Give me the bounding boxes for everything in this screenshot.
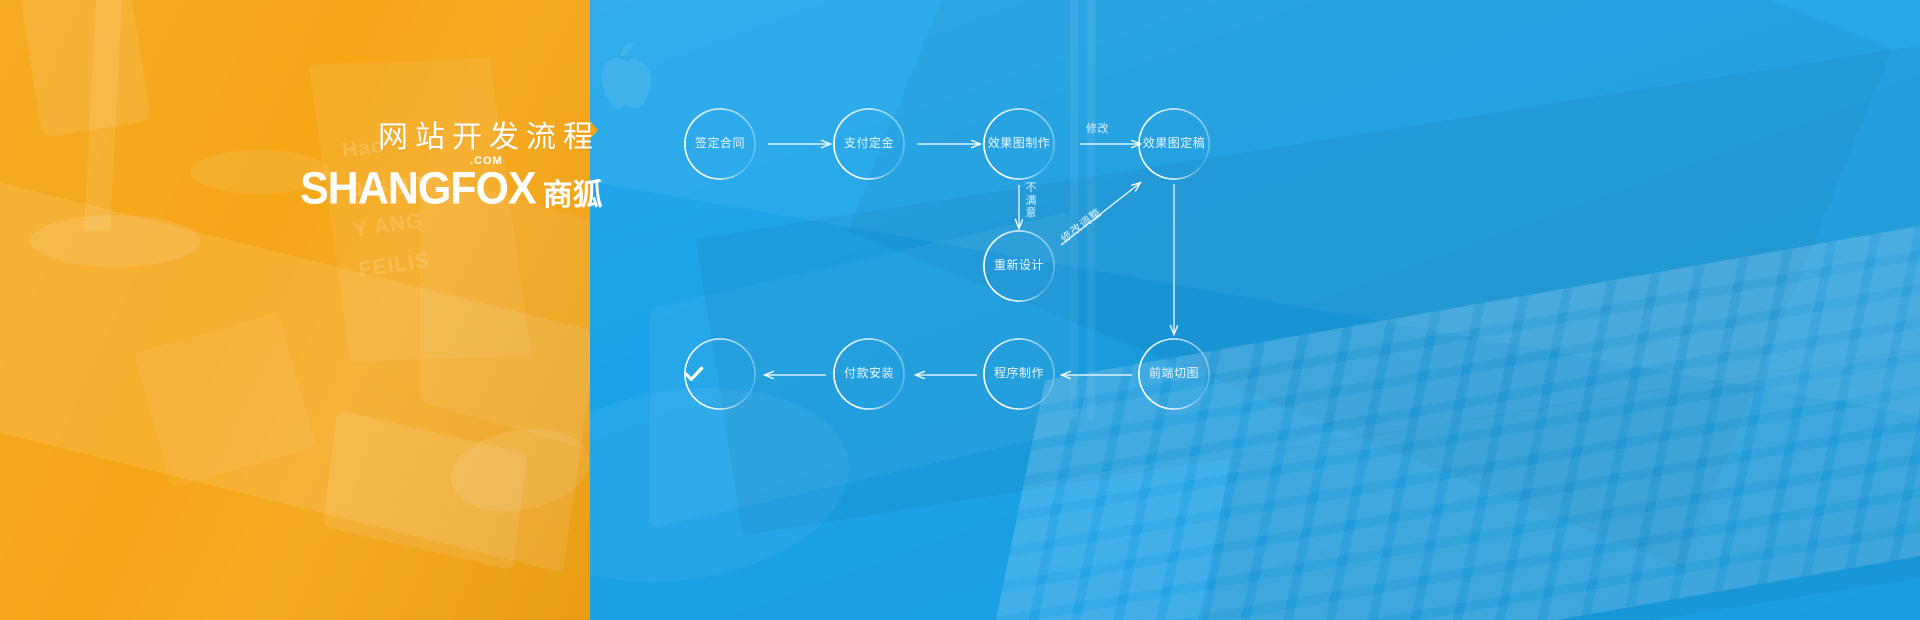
node-redesign[interactable]: 重新设计 xyxy=(983,230,1055,302)
banner-stage: Hao Design Y ANG FEILIS 网站开发流程 SHANGFOX xyxy=(0,0,1920,620)
node-sign-contract-label: 签定合同 xyxy=(686,137,754,151)
edge-label-revise: 修改 xyxy=(1086,120,1109,136)
node-program-build-label: 程序制作 xyxy=(985,367,1053,381)
node-mockup-design[interactable]: 效果图制作 xyxy=(983,108,1055,180)
node-mockup-final[interactable]: 效果图定稿 xyxy=(1138,108,1210,180)
node-pay-install[interactable]: 付款安装 xyxy=(833,338,905,410)
workflow-connectors xyxy=(0,0,1920,620)
node-redesign-label: 重新设计 xyxy=(985,259,1053,273)
node-pay-install-label: 付款安装 xyxy=(835,367,903,381)
node-frontend-slice[interactable]: 前端切图 xyxy=(1138,338,1210,410)
node-pay-deposit-label: 支付定金 xyxy=(835,137,903,151)
workflow-diagram: 签定合同 支付定金 效果图制作 效果图定稿 重新设计 前端切图 程序制作 付款安… xyxy=(0,0,1920,620)
edge-label-not-satisfied: 不 满 意 xyxy=(1025,182,1037,220)
node-complete[interactable]: 完成 xyxy=(684,338,756,410)
node-pay-deposit[interactable]: 支付定金 xyxy=(833,108,905,180)
node-frontend-slice-label: 前端切图 xyxy=(1140,367,1208,381)
node-mockup-design-label: 效果图制作 xyxy=(985,137,1053,151)
node-sign-contract[interactable]: 签定合同 xyxy=(684,108,756,180)
check-icon xyxy=(684,361,704,387)
node-program-build[interactable]: 程序制作 xyxy=(983,338,1055,410)
node-mockup-final-label: 效果图定稿 xyxy=(1140,137,1208,151)
